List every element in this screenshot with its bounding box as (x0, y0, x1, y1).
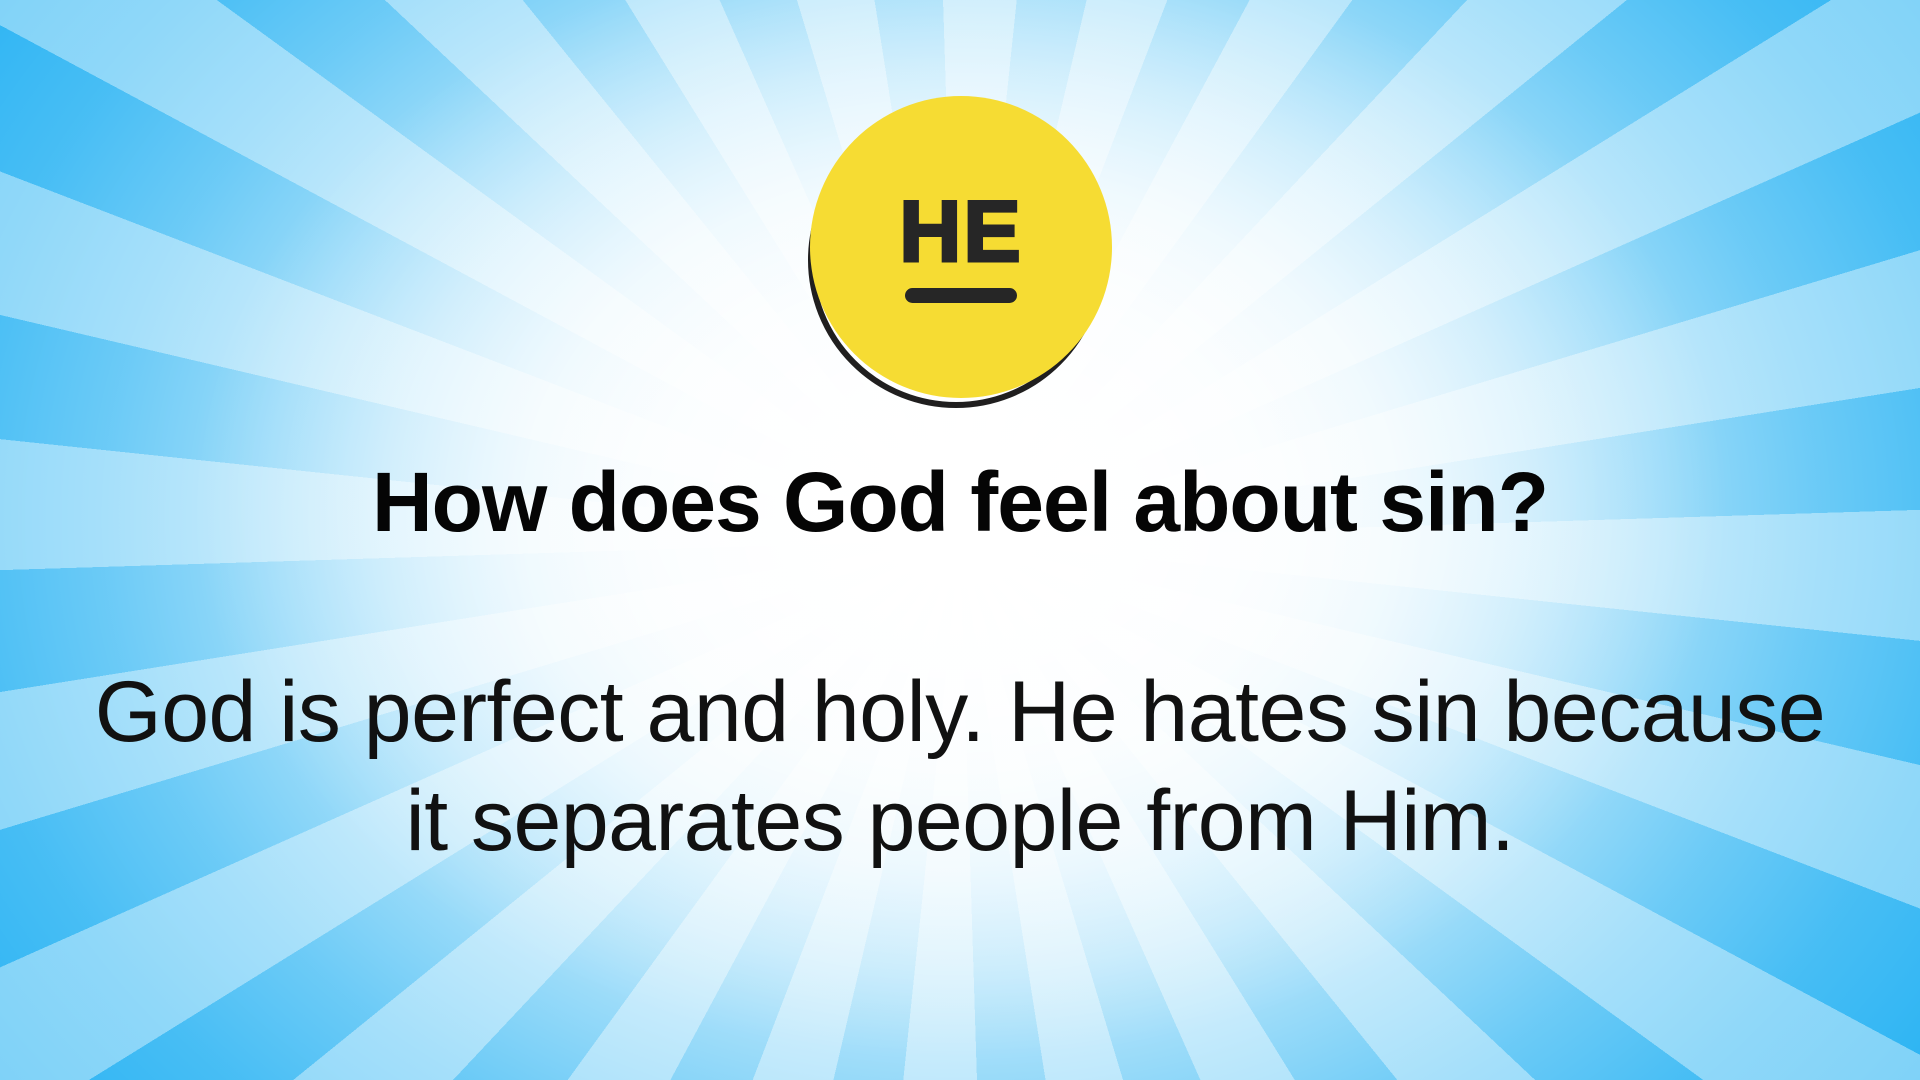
logo-underline-bar (905, 288, 1017, 303)
slide-canvas: HE How does God feel about sin? God is p… (0, 0, 1920, 1080)
logo-monogram: HE (899, 191, 1022, 274)
body-text: God is perfect and holy. He hates sin be… (50, 658, 1870, 875)
body-line-1: God is perfect and holy. He hates sin be… (50, 658, 1870, 766)
body-line-2: it separates people from Him. (50, 767, 1870, 875)
slide-content: HE How does God feel about sin? God is p… (0, 0, 1920, 1080)
page-title: How does God feel about sin? (372, 458, 1548, 546)
logo-mark: HE (810, 96, 1112, 398)
brand-logo: HE (800, 92, 1120, 422)
